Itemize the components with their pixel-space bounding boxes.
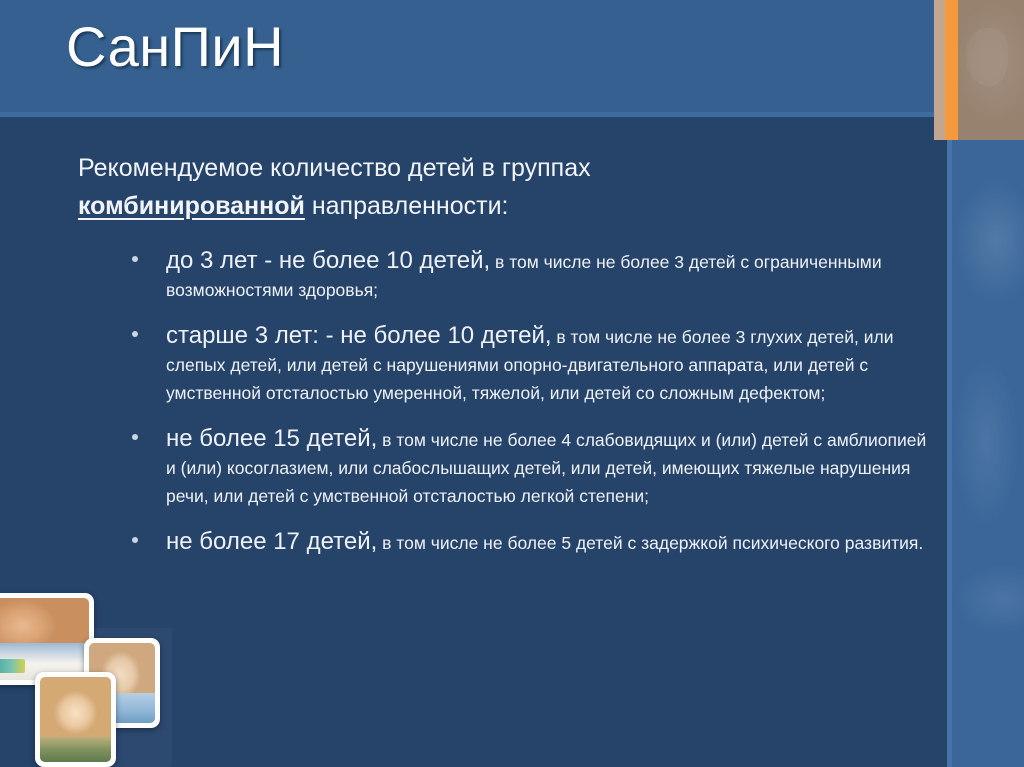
presentation-slide: СанПиН Рекомендуемое количество детей в … — [0, 0, 1024, 767]
slide-title: СанПиН — [66, 16, 284, 79]
bullet-tail: в том числе не более 5 детей с задержкой… — [377, 533, 923, 553]
accent-header-photo — [958, 0, 1024, 140]
bullet-head: не более 15 детей, — [166, 425, 377, 452]
photo-smiling-boy — [35, 672, 116, 767]
bullet-dot-icon — [132, 434, 138, 440]
lead-line-1: Рекомендуемое количество детей в группах — [78, 150, 778, 186]
bullet-head: старше 3 лет: - не более 10 детей, — [166, 322, 552, 349]
lead-line-2-rest: направленности: — [305, 192, 509, 220]
bullet-dot-icon — [132, 537, 138, 543]
bullet-dot-icon — [132, 256, 138, 262]
photo-boy-writing-image — [0, 598, 89, 680]
photo-smiling-boy-image — [40, 677, 111, 762]
right-decor-ghost-image — [955, 118, 1024, 678]
list-item: не более 17 детей, в том числе не более … — [118, 526, 928, 557]
lead-paragraph: Рекомендуемое количество детей в группах… — [78, 150, 778, 225]
bullet-head: не более 17 детей, — [166, 528, 377, 555]
list-item: до 3 лет - не более 10 детей, в том числ… — [118, 245, 928, 305]
list-item: старше 3 лет: - не более 10 детей, в том… — [118, 320, 928, 408]
bullet-list: до 3 лет - не более 10 детей, в том числ… — [118, 245, 928, 572]
right-decor-strip-edge — [947, 115, 952, 767]
bullet-dot-icon — [132, 331, 138, 337]
bullet-head: до 3 лет - не более 10 детей, — [166, 247, 490, 274]
lead-emphasis: комбинированной — [78, 192, 305, 220]
lead-line-2: комбинированной направленности: — [78, 188, 778, 224]
list-item: не более 15 детей, в том числе не более … — [118, 423, 928, 511]
